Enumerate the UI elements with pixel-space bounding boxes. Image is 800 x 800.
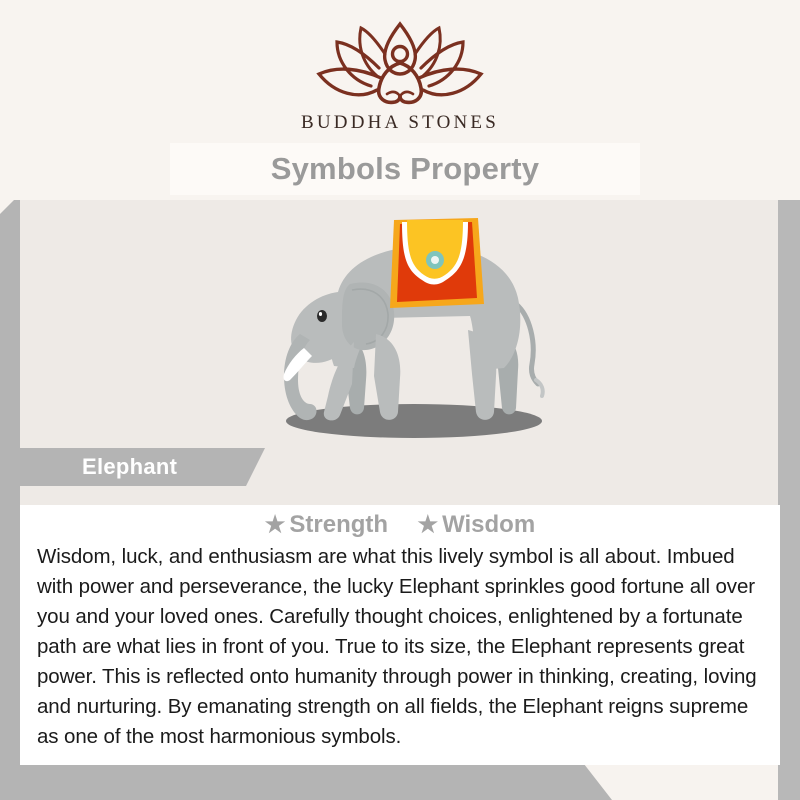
infographic-page: BUDDHA STONES Symbols Property bbox=[0, 0, 800, 800]
traits-row: ★Strength ★Wisdom bbox=[20, 511, 780, 539]
title-band: Symbols Property bbox=[170, 143, 640, 195]
brand-logo: BUDDHA STONES bbox=[0, 18, 800, 134]
saddle-blanket bbox=[390, 218, 484, 308]
page-title: Symbols Property bbox=[170, 143, 640, 195]
trait-wisdom: ★Wisdom bbox=[417, 511, 535, 538]
frame-band-left bbox=[0, 200, 20, 800]
symbol-label-banner: Elephant bbox=[20, 448, 265, 486]
lotus-meditation-icon bbox=[0, 18, 800, 110]
trait-strength: ★Strength bbox=[265, 511, 388, 538]
description-text: Wisdom, luck, and enthusiasm are what th… bbox=[37, 542, 768, 752]
star-icon: ★ bbox=[265, 511, 286, 537]
description-panel: ★Strength ★Wisdom Wisdom, luck, and enth… bbox=[20, 505, 780, 765]
trait-wisdom-label: Wisdom bbox=[442, 511, 535, 538]
trait-strength-label: Strength bbox=[289, 511, 388, 538]
brand-name: BUDDHA STONES bbox=[0, 112, 800, 134]
frame-band-bottom bbox=[0, 764, 800, 800]
eye bbox=[317, 310, 327, 322]
elephant-illustration bbox=[242, 208, 572, 458]
symbol-label: Elephant bbox=[82, 448, 177, 486]
star-icon: ★ bbox=[417, 511, 438, 537]
